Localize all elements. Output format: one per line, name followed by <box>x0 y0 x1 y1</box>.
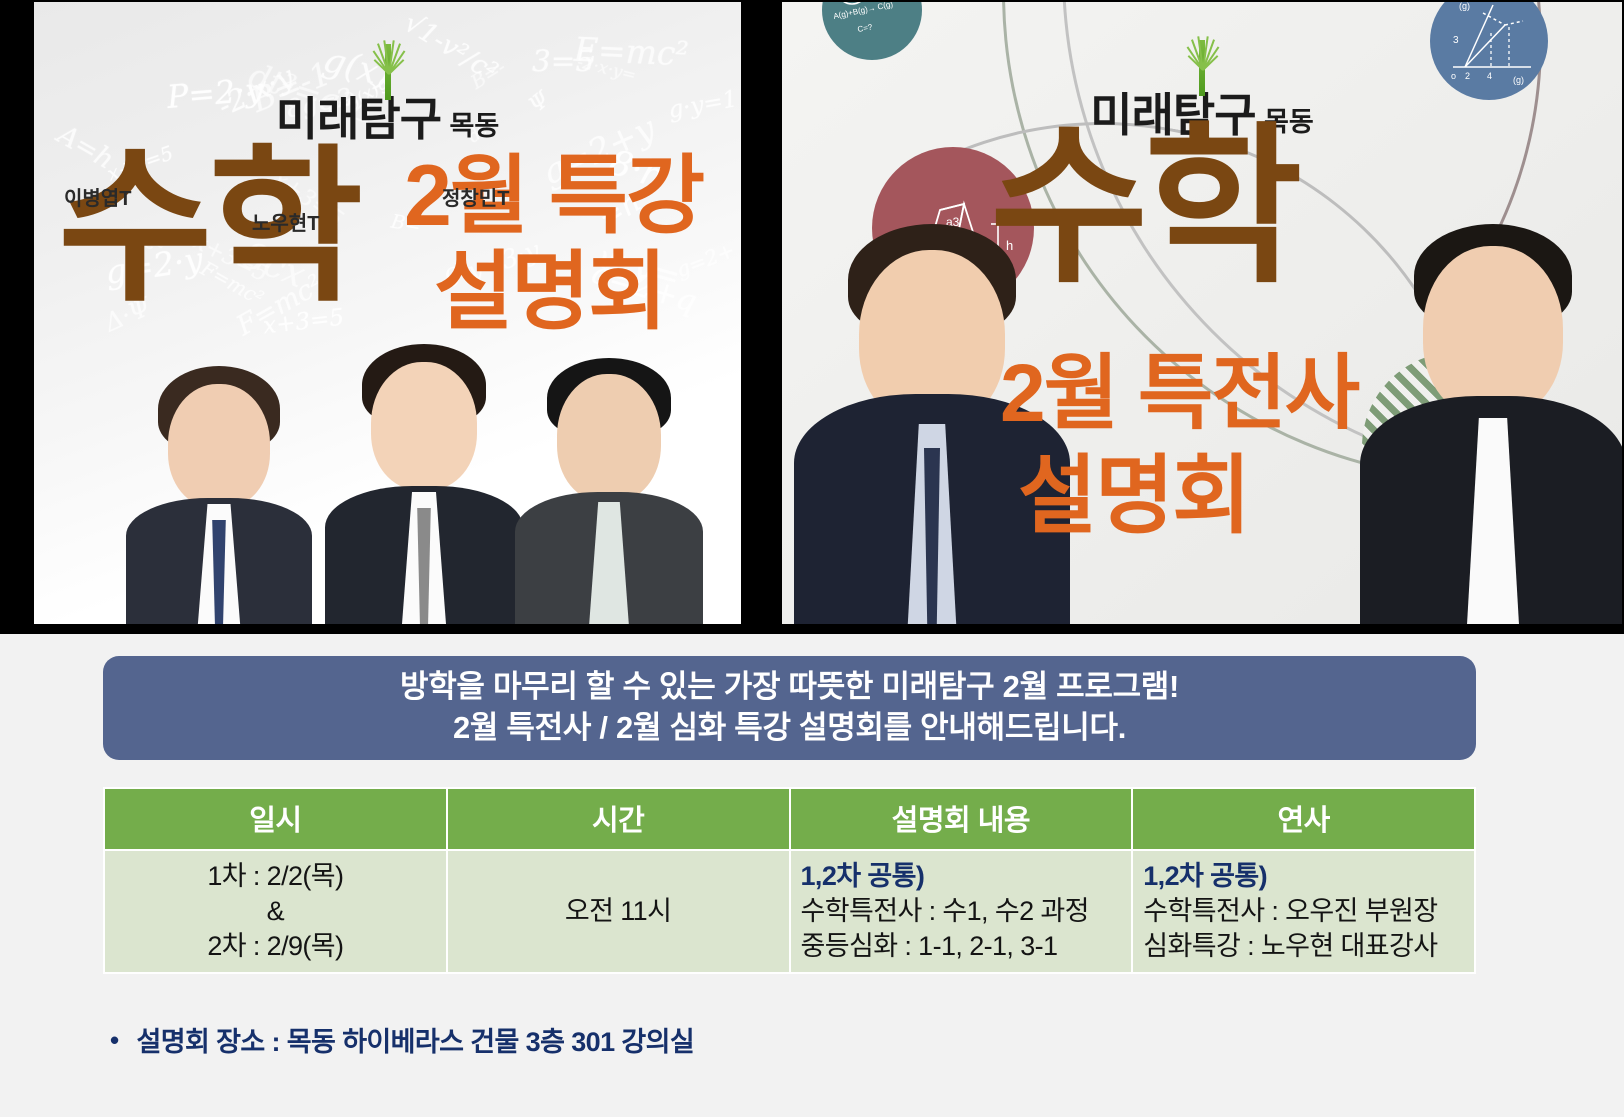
teacher-photo-2 <box>324 344 524 624</box>
cell-time: 오전 11시 <box>447 850 790 973</box>
speaker-line-1: 수학특전사 : 오우진 부원장 <box>1143 894 1464 929</box>
content-line-1: 수학특전사 : 수1, 수2 과정 <box>801 894 1122 929</box>
headline-line-2: 2월 특전사 / 2월 심화 특강 설명회를 안내해드립니다. <box>453 708 1126 749</box>
date-line-1: 1차 : 2/2(목) <box>115 859 436 894</box>
poster-right-subtitle-1: 2월 특전사 <box>1000 354 1358 434</box>
column-header-content: 설명회 내용 <box>790 788 1133 850</box>
table-row: 1차 : 2/2(목) & 2차 : 2/9(목) 오전 11시 1,2차 공통… <box>104 850 1475 973</box>
teacher-photo-1 <box>124 364 314 624</box>
venue-text: 설명회 장소 : 목동 하이베라스 건물 3층 301 강의실 <box>137 1020 695 1059</box>
poster-right-subtitle-2: 설명회 <box>1018 454 1249 538</box>
teacher-name-1: 이병엽T <box>64 182 131 211</box>
logo-left: 미래탐구 목동 <box>34 28 741 143</box>
poster-left: B=-1q=2+q8cxx+3=5E=mc²g·y=1x+3=5c²9·y=3·… <box>34 2 741 624</box>
date-line-2: & <box>115 894 436 929</box>
headline-line-1: 방학을 마무리 할 수 있는 가장 따뜻한 미래탐구 2월 프로그램! <box>400 667 1179 708</box>
poster-right-title: 수학 <box>990 128 1298 286</box>
venue-footnote: • 설명회 장소 : 목동 하이베라스 건물 3층 301 강의실 <box>110 1020 694 1059</box>
speaker-line-2: 심화특강 : 노우현 대표강사 <box>1143 929 1464 964</box>
poster-strip: B=-1q=2+q8cxx+3=5E=mc²g·y=1x+3=5c²9·y=3·… <box>0 0 1624 634</box>
poster-right: A B A(g)+B(g)→ C(g) C=? a3 a4 h <box>782 2 1622 624</box>
cell-date: 1차 : 2/2(목) & 2차 : 2/9(목) <box>104 850 447 973</box>
equation-scribble: g=2+ <box>672 237 737 281</box>
headline-banner: 방학을 마무리 할 수 있는 가장 따뜻한 미래탐구 2월 프로그램! 2월 특… <box>103 656 1476 760</box>
cell-speaker: 1,2차 공통) 수학특전사 : 오우진 부원장 심화특강 : 노우현 대표강사 <box>1132 850 1475 973</box>
schedule-table: 일시 시간 설명회 내용 연사 1차 : 2/2(목) & 2차 : 2/9(목… <box>103 787 1476 974</box>
bullet-icon: • <box>110 1027 119 1053</box>
poster-left-subtitle-2: 설명회 <box>434 250 665 334</box>
cell-content: 1,2차 공통) 수학특전사 : 수1, 수2 과정 중등심화 : 1-1, 2… <box>790 850 1133 973</box>
table-header-row: 일시 시간 설명회 내용 연사 <box>104 788 1475 850</box>
column-header-date: 일시 <box>104 788 447 850</box>
teacher-photo-3 <box>514 358 704 624</box>
date-line-3: 2차 : 2/9(목) <box>115 929 436 964</box>
info-area: 방학을 마무리 할 수 있는 가장 따뜻한 미래탐구 2월 프로그램! 2월 특… <box>0 634 1624 1117</box>
tree-logo-icon <box>1170 24 1234 96</box>
content-subhead: 1,2차 공통) <box>801 859 1122 894</box>
svg-text:(g): (g) <box>1459 2 1470 11</box>
content-line-2: 중등심화 : 1-1, 2-1, 3-1 <box>801 929 1122 964</box>
svg-text:A(g)+B(g)→ C(g): A(g)+B(g)→ C(g) <box>833 2 895 21</box>
column-header-time: 시간 <box>447 788 790 850</box>
speaker-photo-right <box>1358 224 1622 624</box>
teacher-name-3: 정창민T <box>442 182 509 211</box>
teacher-name-2: 노우현T <box>252 207 319 236</box>
speaker-subhead: 1,2차 공통) <box>1143 859 1464 894</box>
tree-logo-icon <box>356 28 420 100</box>
column-header-speaker: 연사 <box>1132 788 1475 850</box>
logo-branch-text: 목동 <box>450 104 500 143</box>
